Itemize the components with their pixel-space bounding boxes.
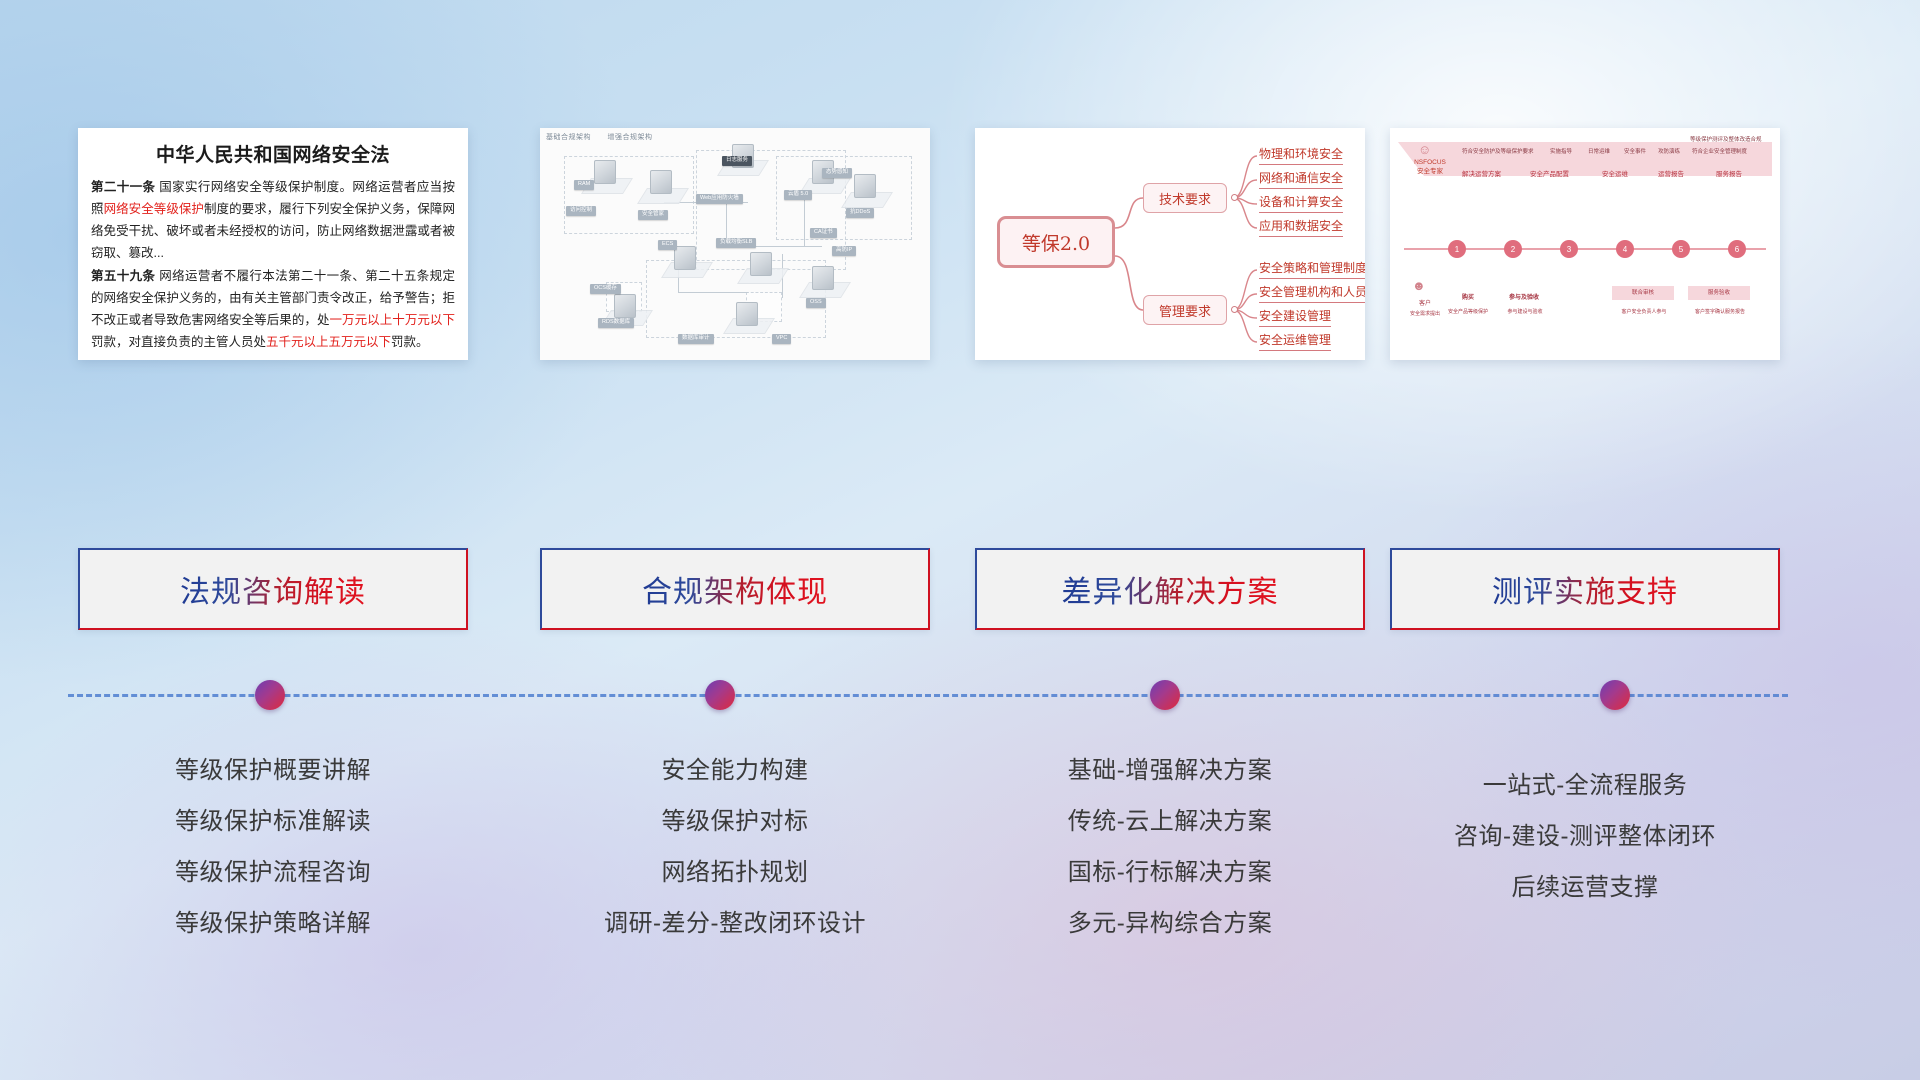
nsfocus-step-5: 5 [1672,240,1690,258]
law-title: 中华人民共和国网络安全法 [78,140,468,167]
section-title-box-4[interactable]: 测评实施支持 [1390,548,1780,630]
nsfocus-header-item-3: 日常运维 [1588,148,1610,156]
arch-node-access-control: 访问控制 [566,206,596,216]
mindmap-root: 等保2.0 [997,216,1115,268]
nsfocus-header-item-1: 符合安全防护及等级保护要求 [1462,148,1534,156]
arch-node-rds: RDS数据库 [598,318,634,328]
architecture-diagram: 基础合规架构 增强合规架构 [540,128,930,360]
arch-box-10 [614,294,636,318]
nsfocus-brand-line2: 安全专家 [1404,167,1456,176]
arch-node-antiddos: 抗DDoS [846,208,874,218]
law-body: 第二十一条 国家实行网络安全等级保护制度。网络运营者应当按照网络安全等级保护制度… [91,176,455,353]
nsfocus-sub-item-5: 服务报告 [1716,168,1742,178]
mindmap-leaf-mgmt-3: 安全建设管理 [1259,308,1331,327]
nsfocus-sub-item-1: 解决运营方案 [1462,168,1501,178]
list-item: 安全能力构建 [540,745,930,796]
list-item: 后续运营支撑 [1390,862,1780,913]
nsfocus-bottom-title-4: 服务验收 [1708,290,1730,296]
section-title-box-2[interactable]: 合规架构体现 [540,548,930,630]
list-item: 调研-差分-整改闭环设计 [540,898,930,949]
architecture-header-left: 基础合规架构 [546,134,591,141]
list-item: 等级保护流程咨询 [78,847,468,898]
nsfocus-brand-line1: NSFOCUS [1404,158,1456,167]
card-dengbao-mindmap: 等保2.0 技术要求 物理和环境安全 网络和通信安全 设备和计算安全 应用和数据… [975,128,1365,360]
mindmap-leaf-mgmt-2: 安全管理机构和人员 [1259,284,1365,303]
list-item: 基础-增强解决方案 [975,745,1365,796]
arch-box-2 [650,170,672,194]
list-column-4: 一站式-全流程服务 咨询-建设-测评整体闭环 后续运营支撑 [1390,760,1780,913]
architecture-canvas: RAM 访问控制 安全管家 日志服务 云盾 5.0 抗DDoS 态势感知 CA证… [546,142,924,356]
list-item: 国标-行标解决方案 [975,847,1365,898]
article-21-highlight: 网络安全等级保护 [104,202,204,216]
arch-node-ca-cert: CA证书 [810,228,837,238]
arch-box-8 [812,266,834,290]
arch-node-waf: Web应用防火墙 [696,194,743,204]
mindmap-leaf-tech-1: 物理和环境安全 [1259,146,1343,165]
section-title-3: 差异化解决方案 [1062,567,1279,611]
arch-node-cloudshield: 云盾 5.0 [784,190,812,200]
arch-node-gaofang-ip: 高防IP [832,246,856,256]
list-item: 网络拓扑规划 [540,847,930,898]
arch-node-vpc: VPC [772,334,791,344]
arch-box-1 [594,160,616,184]
nsfocus-bottom-title-1: 购买 [1448,294,1488,302]
nsfocus-step-6: 6 [1728,240,1746,258]
arch-line-4 [804,198,805,246]
list-item: 多元-异构综合方案 [975,898,1365,949]
nsfocus-bottom-sub-1: 安全产品等级保护 [1438,308,1498,316]
section-title-box-1[interactable]: 法规咨询解读 [78,548,468,630]
list-column-1: 等级保护概要讲解 等级保护标准解读 等级保护流程咨询 等级保护策略详解 [78,745,468,949]
arch-box-6 [674,246,696,270]
nsfocus-bottom-sub-2: 参与建设与验收 [1490,308,1560,316]
card-nsfocus-service-flow: ☺ NSFOCUS 安全专家 符合安全防护及等级保护要求 实施指导 日常运维 安… [1390,128,1780,360]
article-59-post: 罚款。 [391,335,429,349]
arch-line-6 [678,292,748,293]
article-59-highlight-2: 五千元以上五万元以下 [266,335,391,349]
nsfocus-step-2: 2 [1504,240,1522,258]
section-title-box-3[interactable]: 差异化解决方案 [975,548,1365,630]
timeline-dashed-line [68,694,1788,697]
arch-box-9 [736,302,758,326]
section-title-4: 测评实施支持 [1492,567,1678,611]
mindmap: 等保2.0 技术要求 物理和环境安全 网络和通信安全 设备和计算安全 应用和数据… [975,128,1365,360]
article-21-label: 第二十一条 [91,180,155,194]
timeline-node-3[interactable] [1150,680,1180,710]
list-item: 等级保护对标 [540,796,930,847]
mindmap-dot-technical [1231,194,1238,201]
list-item: 咨询-建设-测评整体闭环 [1390,811,1780,862]
nsfocus-header-item-2: 实施指导 [1550,148,1572,156]
expert-avatar-icon: ☺ [1418,142,1431,157]
list-item: 一站式-全流程服务 [1390,760,1780,811]
nsfocus-header-item-6: 符合企业安全管理制度 [1692,148,1747,156]
card-compliance-architecture: 基础合规架构 增强合规架构 [540,128,930,360]
nsfocus-sub-item-4: 运营报告 [1658,168,1684,178]
arch-node-ocs: OCS缓存 [590,284,621,294]
list-item: 等级保护策略详解 [78,898,468,949]
nsfocus-customer-label: 客户 [1398,300,1452,308]
list-item: 等级保护概要讲解 [78,745,468,796]
nsfocus-header-item-5: 攻防演练 [1658,148,1680,156]
nsfocus-header-item-7: 等级保护测评及整体改造合规 [1690,136,1762,144]
nsfocus-sub-item-3: 安全运维 [1602,168,1628,178]
article-59-highlight-1: 一万元以上十万元以下 [330,313,455,327]
nsfocus-bottom-tag-3: 联合审核 [1612,286,1674,300]
architecture-header-right: 增强合规架构 [607,134,652,141]
arch-box-7 [750,252,772,276]
arch-node-security-butler: 安全管家 [638,210,668,220]
customer-avatar-icon: ☻ [1412,278,1426,293]
card-cybersecurity-law: 中华人民共和国网络安全法 第二十一条 国家实行网络安全等级保护制度。网络运营者应… [78,128,468,360]
arch-node-slb: 负载均衡SLB [716,238,756,248]
list-item: 等级保护标准解读 [78,796,468,847]
mindmap-leaf-mgmt-4: 安全运维管理 [1259,332,1331,351]
nsfocus-diagram: ☺ NSFOCUS 安全专家 符合安全防护及等级保护要求 实施指导 日常运维 安… [1390,128,1780,360]
nsfocus-bottom-sub-4: 客户签字确认服务报告 [1682,308,1758,316]
mindmap-leaf-mgmt-1: 安全策略和管理制度 [1259,260,1365,279]
list-item: 传统-云上解决方案 [975,796,1365,847]
article-59-mid: 罚款，对直接负责的主管人员处 [91,335,266,349]
timeline-node-1[interactable] [255,680,285,710]
mindmap-leaf-tech-3: 设备和计算安全 [1259,194,1343,213]
timeline-node-2[interactable] [705,680,735,710]
cards-row: 中华人民共和国网络安全法 第二十一条 国家实行网络安全等级保护制度。网络运营者应… [0,128,1920,360]
nsfocus-bottom-sub-3: 客户安全负责人参与 [1606,308,1682,316]
nsfocus-step-1: 1 [1448,240,1466,258]
nsfocus-header-item-4: 安全事件 [1624,148,1646,156]
architecture-header: 基础合规架构 增强合规架构 [546,132,666,142]
law-article-59: 第五十九条 网络运营者不履行本法第二十一条、第二十五条规定的网络安全保护义务的，… [91,265,455,353]
nsfocus-bottom-title-2: 参与及验收 [1496,294,1552,302]
arch-node-ecs: ECS [658,240,677,250]
arch-node-situation-awareness: 态势感知 [822,168,852,178]
nsfocus-sub-item-2: 安全产品配置 [1530,168,1569,178]
law-article-21: 第二十一条 国家实行网络安全等级保护制度。网络运营者应当按照网络安全等级保护制度… [91,176,455,264]
mindmap-leaf-tech-4: 应用和数据安全 [1259,218,1343,237]
mindmap-dot-management [1231,306,1238,313]
nsfocus-brand: NSFOCUS 安全专家 [1404,158,1456,176]
list-column-3: 基础-增强解决方案 传统-云上解决方案 国标-行标解决方案 多元-异构综合方案 [975,745,1365,949]
section-title-2: 合规架构体现 [642,567,828,611]
arch-node-ram: RAM [574,180,594,190]
mindmap-leaf-tech-2: 网络和通信安全 [1259,170,1343,189]
section-title-1: 法规咨询解读 [180,567,366,611]
nsfocus-bottom-title-3: 联合审核 [1632,290,1654,296]
arch-node-oss: OSS [806,298,826,308]
mindmap-branch-management: 管理要求 [1143,295,1227,325]
arch-node-db-audit: 数据库审计 [678,334,714,344]
article-59-label: 第五十九条 [91,269,155,283]
mindmap-branch-technical: 技术要求 [1143,183,1227,213]
arch-box-5 [854,174,876,198]
timeline-node-4[interactable] [1600,680,1630,710]
nsfocus-bottom-tag-4: 服务验收 [1688,286,1750,300]
arch-node-log-service: 日志服务 [722,156,752,166]
list-column-2: 安全能力构建 等级保护对标 网络拓扑规划 调研-差分-整改闭环设计 [540,745,930,949]
nsfocus-step-4: 4 [1616,240,1634,258]
nsfocus-step-3: 3 [1560,240,1578,258]
